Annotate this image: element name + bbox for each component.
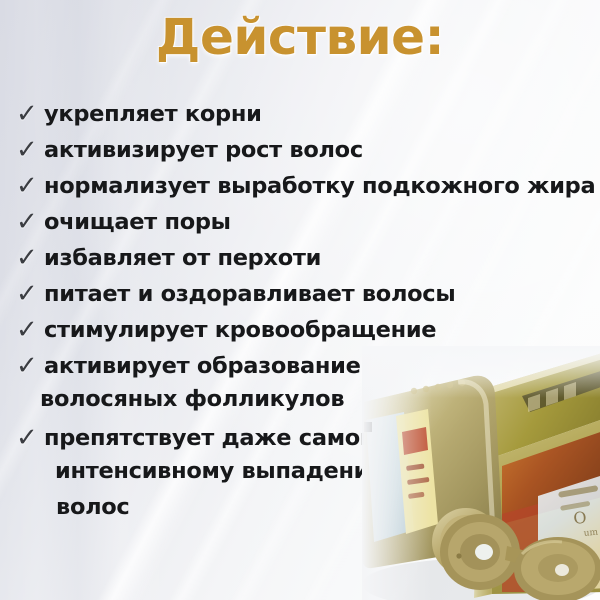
benefit-item-label: активизирует рост волос: [44, 139, 600, 163]
check-icon: ✓: [16, 101, 44, 127]
check-icon: ✓: [16, 245, 44, 271]
benefit-item: ✓укрепляет корни: [0, 100, 600, 136]
benefit-list: ✓укрепляет корни✓активизирует рост волос…: [0, 100, 600, 532]
benefit-item: ✓нормализует выработку подкожного жира: [0, 172, 600, 208]
benefit-item: ✓стимулирует кровообращение: [0, 316, 600, 352]
benefit-item: ✓избавляет от перхоти: [0, 244, 600, 280]
benefit-item-label: нормализует выработку подкожного жира: [44, 175, 600, 199]
benefit-item-label: волос: [56, 496, 600, 520]
benefit-item: волосяных фолликулов: [0, 388, 600, 424]
benefit-item-label: стимулирует кровообращение: [44, 319, 600, 343]
page-title: Действие:: [0, 8, 600, 66]
benefit-item: волос: [0, 496, 600, 532]
benefit-item-label: укрепляет корни: [44, 103, 600, 127]
poster: Действие: ✓укрепляет корни✓активизирует …: [0, 0, 600, 600]
benefit-item-label: питает и оздоравливает волосы: [44, 283, 600, 307]
check-icon: ✓: [16, 281, 44, 307]
check-icon: ✓: [16, 425, 44, 451]
check-icon: ✓: [16, 137, 44, 163]
benefit-item: интенсивному выпадению: [0, 460, 600, 496]
benefit-item: ✓очищает поры: [0, 208, 600, 244]
benefit-item: ✓препятствует даже самому: [0, 424, 600, 460]
benefit-item: ✓активизирует рост волос: [0, 136, 600, 172]
benefit-item-label: активирует образование: [44, 355, 600, 379]
check-icon: ✓: [16, 173, 44, 199]
benefit-item-label: очищает поры: [44, 211, 600, 235]
check-icon: ✓: [16, 317, 44, 343]
benefit-item-label: волосяных фолликулов: [40, 388, 600, 412]
benefit-item-label: интенсивному выпадению: [55, 460, 600, 484]
benefit-item: ✓питает и оздоравливает волосы: [0, 280, 600, 316]
check-icon: ✓: [16, 209, 44, 235]
benefit-item-label: препятствует даже самому: [44, 427, 600, 451]
check-icon: ✓: [16, 353, 44, 379]
benefit-item-label: избавляет от перхоти: [44, 247, 600, 271]
benefit-item: ✓активирует образование: [0, 352, 600, 388]
